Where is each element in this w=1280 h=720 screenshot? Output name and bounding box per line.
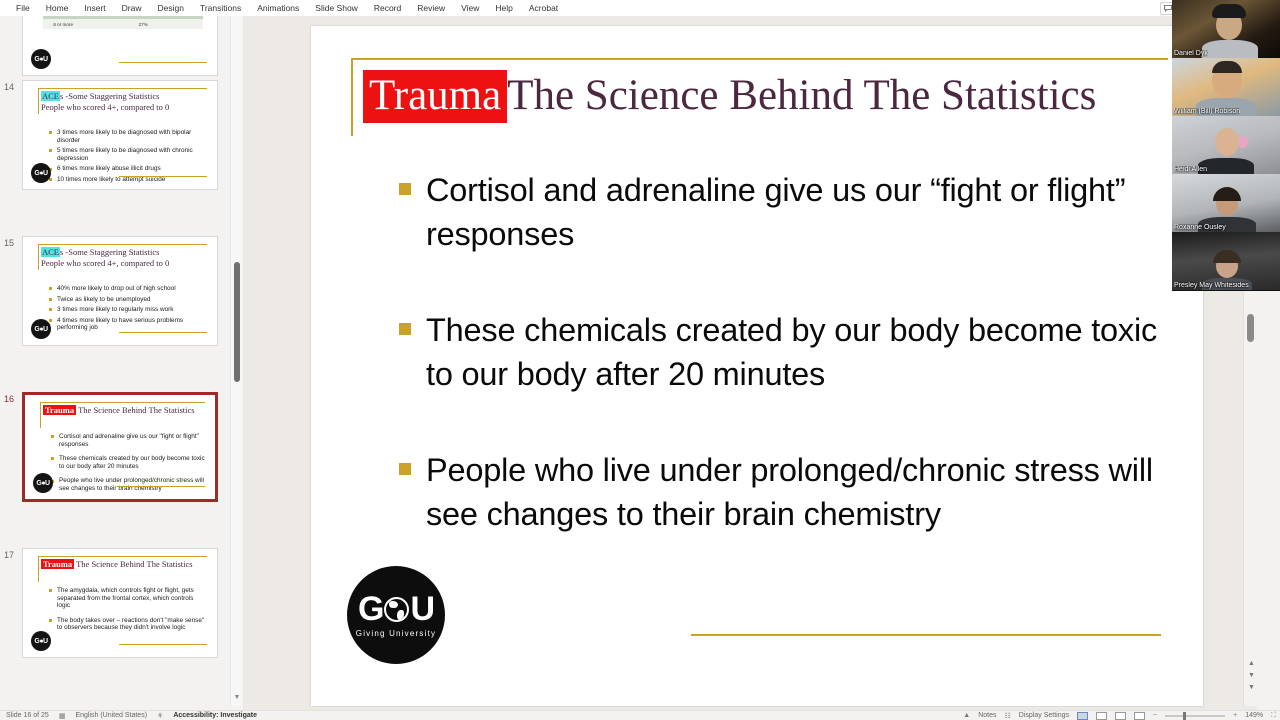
decorative-rule: [119, 176, 207, 177]
decorative-rule: [40, 402, 41, 428]
decorative-rule-bottom: [691, 634, 1161, 636]
list-item: The body takes over – reactions don't "m…: [49, 617, 207, 632]
status-bar: Slide 16 of 25 ▦ English (United States)…: [0, 710, 1280, 720]
fit-to-window-icon[interactable]: ⛶: [1271, 712, 1276, 720]
thumbnail-subtitle: People who scored 4+, compared to 0: [41, 258, 169, 268]
decorative-rule: [39, 244, 207, 245]
thumbnail-number: 14: [4, 82, 14, 92]
menu-item-view[interactable]: View: [453, 0, 487, 16]
menu-item-help[interactable]: Help: [487, 0, 520, 16]
menu-item-file[interactable]: File: [8, 0, 38, 16]
video-tile[interactable]: Daniel Dyk: [1172, 0, 1280, 58]
zoom-level[interactable]: 149%: [1245, 712, 1263, 719]
list-item: 40% more likely to drop out of high scho…: [49, 285, 207, 293]
menu-item-home[interactable]: Home: [38, 0, 77, 16]
title-rest: s -Some Staggering Statistics: [60, 247, 159, 257]
slide-bullet: These chemicals created by our body beco…: [389, 308, 1173, 396]
thumbnail-subtitle: People who scored 4+, compared to 0: [41, 102, 169, 112]
list-item: These chemicals created by our body beco…: [51, 455, 205, 470]
ribbon-menubar: File Home Insert Draw Design Transitions…: [0, 0, 1280, 16]
menu-item-draw[interactable]: Draw: [114, 0, 150, 16]
menu-item-record[interactable]: Record: [366, 0, 409, 16]
decorative-rule: [119, 332, 207, 333]
logo-letter-g: G: [358, 592, 383, 626]
decorative-rule: [117, 486, 205, 487]
list-item: Cortisol and adrenaline give us our "fig…: [51, 433, 205, 448]
thumbnail-title: ACEs -Some Staggering Statistics People …: [41, 247, 211, 269]
thumbnail-number: 17: [4, 550, 14, 560]
decorative-rule: [119, 62, 207, 63]
thumbnail-bullet-list: The amygdala, which controls fight or fl…: [49, 587, 207, 639]
thumbnail-canvas: ACES Score % who have experienced homele…: [22, 16, 218, 76]
slide-editing-area[interactable]: TraumaThe Science Behind The Statistics …: [243, 16, 1257, 712]
gu-logo-icon: G●U: [31, 631, 51, 651]
menu-item-slide-show[interactable]: Slide Show: [307, 0, 366, 16]
zoom-slider-handle[interactable]: [1183, 712, 1186, 720]
title-rest: s -Some Staggering Statistics: [60, 91, 159, 101]
table-cell: 27%: [83, 19, 203, 29]
slide-title[interactable]: TraumaThe Science Behind The Statistics: [363, 68, 1183, 124]
title-highlight: ACE: [41, 91, 60, 101]
display-settings-button[interactable]: Display Settings: [1019, 712, 1069, 719]
participant-name: Roxanne Ousley: [1174, 224, 1226, 231]
menu-item-acrobat[interactable]: Acrobat: [521, 0, 566, 16]
list-item: 3 times more likely to be diagnosed with…: [49, 129, 207, 144]
scrollbar-thumb[interactable]: [1247, 314, 1254, 342]
decorative-rule: [119, 644, 207, 645]
participant-hair: [1213, 250, 1241, 263]
gu-logo-icon: G●U: [33, 473, 53, 493]
participant-avatar: [1215, 128, 1239, 156]
thumbnail-slide-17[interactable]: 17 Trauma The Science Behind The Statist…: [0, 546, 228, 660]
slide-bullet: Cortisol and adrenaline give us our “fig…: [389, 168, 1173, 256]
video-conference-panel[interactable]: Daniel Dyk William (Bill) Robison Heidi …: [1172, 0, 1280, 291]
scrollbar-thumb[interactable]: [234, 262, 240, 382]
decorative-rule-top: [351, 58, 1168, 60]
view-normal-button[interactable]: [1077, 712, 1088, 720]
previous-slide-arrow-icon[interactable]: ▲: [1247, 659, 1256, 668]
thumbnail-title: Trauma The Science Behind The Statistics: [41, 559, 211, 570]
table-cell: 6 or more: [43, 19, 83, 29]
slide-counter: Slide 16 of 25: [6, 712, 49, 719]
menu-item-insert[interactable]: Insert: [76, 0, 113, 16]
menu-item-review[interactable]: Review: [409, 0, 453, 16]
list-item: Twice as likely to be unemployed: [49, 296, 207, 304]
aces-homelessness-table: ACES Score % who have experienced homele…: [43, 16, 203, 29]
slide-thumbnail-pane[interactable]: 13 ACES Score % who have experienced hom…: [0, 16, 228, 712]
video-tile[interactable]: William (Bill) Robison: [1172, 58, 1280, 116]
decorative-rule: [41, 402, 205, 403]
menu-item-transitions[interactable]: Transitions: [192, 0, 249, 16]
slide-bullet: People who live under prolonged/chronic …: [389, 448, 1173, 536]
language-indicator[interactable]: English (United States): [75, 712, 147, 719]
participant-headphones: [1238, 136, 1248, 148]
view-slide-sorter-button[interactable]: [1096, 712, 1107, 720]
participant-name: Daniel Dyk: [1174, 50, 1208, 57]
title-rest: The Science Behind The Statistics: [507, 72, 1096, 119]
gu-logo-icon: G U Giving University: [347, 566, 445, 664]
view-reading-button[interactable]: [1115, 712, 1126, 720]
participant-hair: [1212, 61, 1242, 73]
decorative-rule: [38, 556, 39, 582]
slide-layout-icon[interactable]: ▦: [59, 712, 66, 720]
title-highlight: Trauma: [41, 559, 74, 569]
thumbnail-number: 15: [4, 238, 14, 248]
participant-hair: [1213, 187, 1241, 201]
title-rest: The Science Behind The Statistics: [78, 405, 194, 415]
thumbnail-pane-scrollbar[interactable]: ▼: [230, 16, 242, 706]
title-highlight-trauma: Trauma: [363, 70, 507, 123]
menu-item-animations[interactable]: Animations: [249, 0, 307, 16]
thumbnail-bullet-list: 40% more likely to drop out of high scho…: [49, 285, 207, 335]
thumbnail-title: Trauma The Science Behind The Statistics: [43, 405, 209, 416]
thumbnail-canvas: ACEs -Some Staggering Statistics People …: [22, 236, 218, 346]
thumbnail-bullet-list: 3 times more likely to be diagnosed with…: [49, 129, 207, 187]
comment-bubble-glyph: [1164, 5, 1172, 12]
thumbnail-slide-13[interactable]: 13 ACES Score % who have experienced hom…: [0, 16, 228, 78]
list-item: The amygdala, which controls fight or fl…: [49, 587, 207, 610]
gu-logo-icon: G●U: [31, 319, 51, 339]
notes-icon[interactable]: ▲: [963, 712, 970, 719]
zoom-slider[interactable]: [1165, 715, 1225, 717]
thumbnail-title: ACEs -Some Staggering Statistics People …: [41, 91, 211, 113]
decorative-rule: [38, 88, 39, 114]
slide-body-placeholder[interactable]: Cortisol and adrenaline give us our “fig…: [389, 168, 1173, 588]
thumbnail-slide-16[interactable]: 16 Trauma The Science Behind The Statist…: [0, 390, 228, 504]
powerpoint-window: File Home Insert Draw Design Transitions…: [0, 0, 1280, 720]
list-item: 3 times more likely to regularly miss wo…: [49, 306, 207, 314]
list-item: 10 times more likely to attempt suicide: [49, 176, 207, 184]
scroll-down-arrow-icon[interactable]: ▼: [233, 694, 241, 702]
logo-wordmark: G U: [358, 592, 434, 626]
participant-name: Heidi Allen: [1174, 166, 1207, 173]
video-tile[interactable]: Heidi Allen: [1172, 116, 1280, 174]
decorative-rule: [39, 556, 207, 557]
decorative-rule: [38, 244, 39, 270]
scroll-down-arrow-icon[interactable]: ▼: [1247, 683, 1256, 692]
next-slide-arrow-icon[interactable]: ▼: [1247, 671, 1256, 680]
participant-name: Presley May Whitesides: [1174, 282, 1249, 289]
zoom-out-icon[interactable]: −: [1153, 712, 1157, 719]
title-highlight: ACE: [41, 247, 60, 257]
video-tile[interactable]: Roxanne Ousley: [1172, 174, 1280, 232]
thumbnail-slide-15[interactable]: 15 ACEs -Some Staggering Statistics Peop…: [0, 234, 228, 348]
notes-button[interactable]: Notes: [978, 712, 996, 719]
thumbnail-slide-14[interactable]: 14 ACEs -Some Staggering Statistics Peop…: [0, 78, 228, 192]
globe-icon: [384, 597, 409, 622]
logo-subtitle: Giving University: [356, 629, 436, 638]
gu-logo-icon: G●U: [31, 49, 51, 69]
title-rest: The Science Behind The Statistics: [76, 559, 192, 569]
gu-logo-icon: G●U: [31, 163, 51, 183]
list-item: 4 times more likely to have serious prob…: [49, 317, 207, 332]
logo-letter-u: U: [410, 592, 434, 626]
decorative-rule-left: [351, 58, 353, 136]
participant-hat: [1212, 4, 1246, 18]
thumbnail-bullet-list: Cortisol and adrenaline give us our "fig…: [51, 433, 205, 500]
list-item: 6 times more likely abuse illicit drugs: [49, 165, 207, 173]
display-settings-icon[interactable]: ☷: [1005, 712, 1011, 720]
menu-item-design[interactable]: Design: [150, 0, 192, 16]
participant-body: [1202, 40, 1258, 58]
accessibility-status[interactable]: Accessibility: Investigate: [173, 712, 257, 719]
video-tile[interactable]: Presley May Whitesides: [1172, 232, 1280, 290]
status-bar-left: Slide 16 of 25 ▦ English (United States)…: [0, 712, 257, 720]
participant-name: William (Bill) Robison: [1174, 108, 1240, 115]
status-bar-right: ▲ Notes ☷ Display Settings − + 149% ⛶: [963, 712, 1276, 720]
list-item: People who live under prolonged/chronic …: [51, 477, 205, 492]
list-item: 5 times more likely to be diagnosed with…: [49, 147, 207, 162]
view-slideshow-button[interactable]: [1134, 712, 1145, 720]
decorative-rule: [39, 88, 207, 89]
thumbnail-canvas-selected: Trauma The Science Behind The Statistics…: [22, 392, 218, 502]
title-highlight: Trauma: [43, 405, 76, 415]
thumbnail-canvas: Trauma The Science Behind The Statistics…: [22, 548, 218, 658]
zoom-in-icon[interactable]: +: [1233, 712, 1237, 719]
accessibility-icon: ⚘: [157, 712, 163, 720]
table-row: 6 or more 27%: [43, 19, 203, 29]
thumbnail-number: 16: [4, 394, 14, 404]
thumbnail-canvas: ACEs -Some Staggering Statistics People …: [22, 80, 218, 190]
active-slide[interactable]: TraumaThe Science Behind The Statistics …: [311, 26, 1203, 706]
